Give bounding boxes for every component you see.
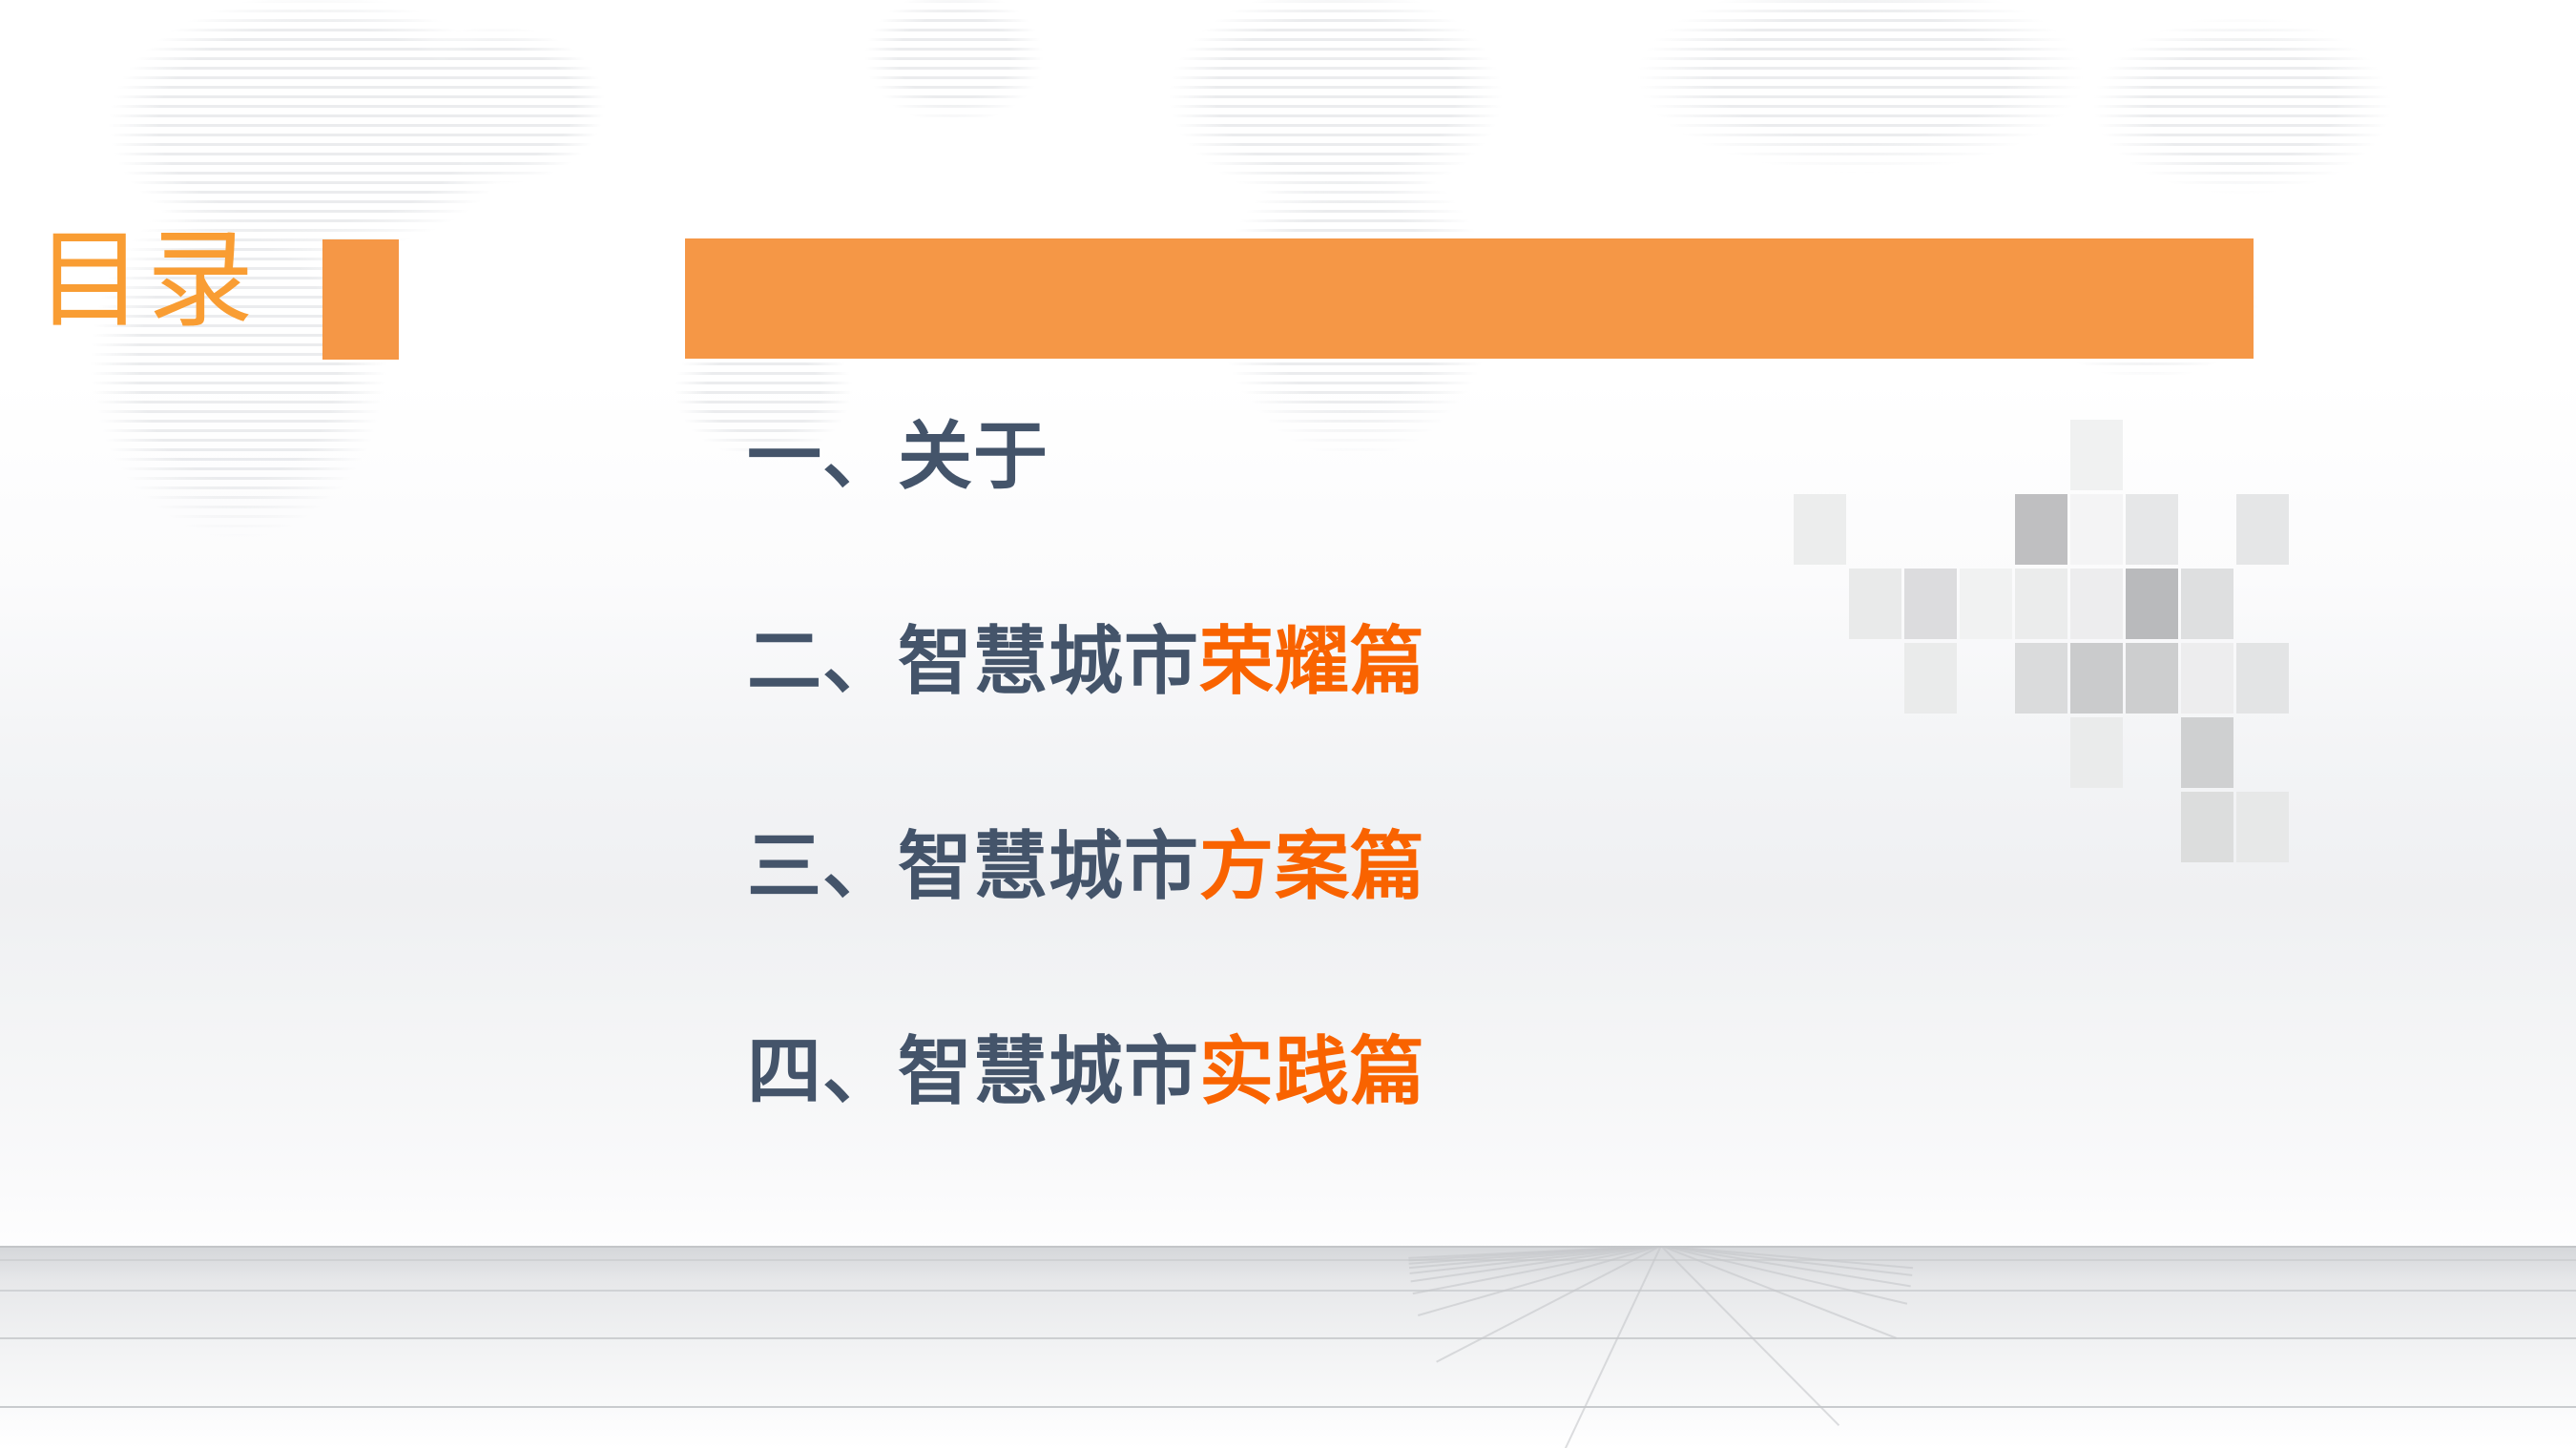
mosaic-cell — [2070, 494, 2123, 565]
mosaic-cell — [2070, 420, 2123, 490]
mosaic-squares-decoration — [1794, 420, 2576, 963]
title-accent-square — [322, 239, 399, 360]
mosaic-cell — [2015, 643, 2067, 714]
mosaic-cell — [2126, 569, 2178, 639]
mosaic-cell — [2181, 569, 2233, 639]
floor-perspective-line — [1661, 1246, 1907, 1305]
table-of-contents: 一、关于二、智慧城市荣耀篇三、智慧城市方案篇四、智慧城市实践篇 — [747, 420, 1797, 1240]
toc-item-label: 智慧城市 — [898, 625, 1199, 699]
mosaic-cell — [1849, 569, 1901, 639]
floor-perspective-line — [1660, 1246, 1839, 1426]
floor-perspective-line — [1552, 1246, 1662, 1448]
mosaic-cell — [2015, 569, 2067, 639]
toc-item[interactable]: 一、关于 — [747, 420, 1797, 625]
mosaic-cell — [2181, 717, 2233, 788]
toc-item[interactable]: 四、智慧城市实践篇 — [747, 1035, 1797, 1240]
mosaic-cell — [2236, 792, 2289, 862]
perspective-floor — [0, 1246, 2576, 1448]
floor-perspective-line — [1661, 1246, 1911, 1287]
page-title: 目录 — [36, 227, 303, 334]
mosaic-cell — [2236, 643, 2289, 714]
mosaic-cell — [1904, 643, 1957, 714]
floor-horizontal-line — [0, 1406, 2576, 1408]
toc-item-label: 智慧城市 — [898, 830, 1199, 904]
mosaic-cell — [2181, 792, 2233, 862]
toc-item-index: 四、 — [747, 1035, 898, 1109]
mosaic-cell — [2015, 494, 2067, 565]
floor-horizontal-line — [0, 1337, 2576, 1339]
floor-horizontal-line — [0, 1290, 2576, 1292]
toc-item-accent: 实践篇 — [1199, 1035, 1425, 1109]
mosaic-cell — [1794, 494, 1846, 565]
mosaic-cell — [2126, 643, 2178, 714]
toc-item[interactable]: 三、智慧城市方案篇 — [747, 830, 1797, 1035]
toc-item[interactable]: 二、智慧城市荣耀篇 — [747, 625, 1797, 830]
toc-item-accent: 方案篇 — [1199, 830, 1425, 904]
mosaic-cell — [1904, 569, 1957, 639]
toc-item-index: 二、 — [747, 625, 898, 699]
mosaic-cell — [2126, 494, 2178, 565]
mosaic-cell — [2181, 643, 2233, 714]
mosaic-cell — [2236, 494, 2289, 565]
toc-item-index: 三、 — [747, 830, 898, 904]
toc-item-index: 一、 — [747, 420, 898, 494]
toc-item-label: 智慧城市 — [898, 1035, 1199, 1109]
toc-item-label: 关于 — [898, 420, 1049, 494]
mosaic-cell — [2070, 569, 2123, 639]
title-banner-bar — [685, 238, 2254, 359]
toc-item-accent: 荣耀篇 — [1199, 625, 1425, 699]
mosaic-cell — [2070, 643, 2123, 714]
mosaic-cell — [1960, 569, 2012, 639]
floor-horizontal-line — [0, 1259, 2576, 1261]
mosaic-cell — [2070, 717, 2123, 788]
agenda-slide: 目录 一、关于二、智慧城市荣耀篇三、智慧城市方案篇四、智慧城市实践篇 — [0, 0, 2576, 1448]
floor-horizon-line — [0, 1246, 2576, 1248]
